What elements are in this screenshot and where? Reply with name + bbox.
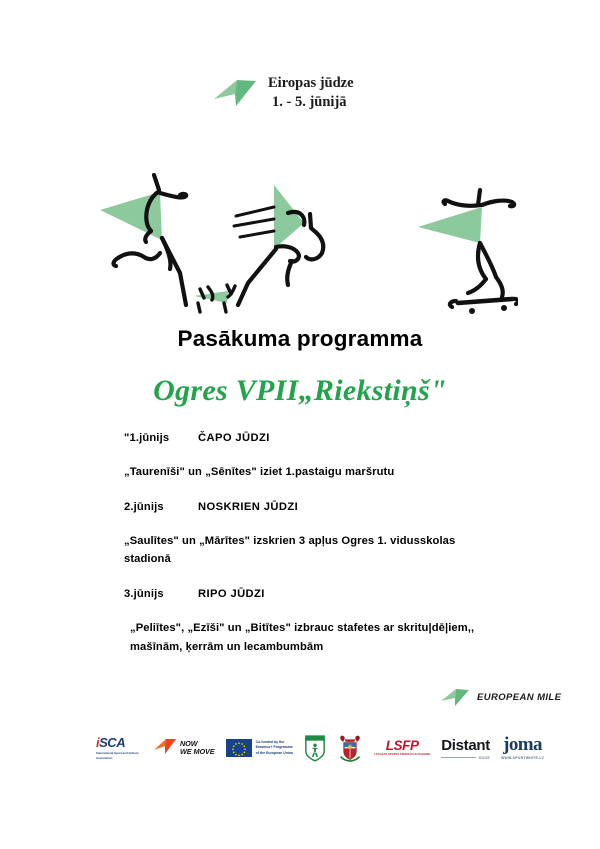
program-day-row: 3.jūnijsRIPO JŪDZI [124,586,504,602]
joma-subtitle: WWW.SPORTWHITE.LV [501,756,544,760]
program-day-row: 2.jūnijsNOSKRIEN JŪDZI [124,499,504,515]
sponsor-distant: Distant EDGE [441,737,490,760]
nwm-line-2: WE MOVE [180,747,215,756]
lsfp-subtitle: LATVIJAS SPORTA FEDERĀCIJU PADOME [374,754,430,757]
page-title: Pasākuma programma [0,326,600,352]
green-sport-shield-icon [304,734,326,762]
program-day-label: 2.jūnijs [124,499,198,515]
program-day-label: 3.jūnijs [124,586,198,602]
program-description: „Saulītes" un „Mārītes" izskrien 3 apļus… [124,532,504,569]
header-text-block: Eiropas jūdze 1. - 5. jūnijā [268,74,354,112]
sponsor-eu-erasmus: Co-funded by the Erasmus+ Programme of t… [226,739,294,757]
header-line-2: 1. - 5. jūnijā [268,93,354,112]
distant-wordmark: Distant [441,737,490,754]
distant-rule-line [441,757,476,758]
sponsor-lsfp: LSFP LATVIJAS SPORTA FEDERĀCIJU PADOME [374,739,430,757]
program-day-label: "1.jūnijs [124,430,198,446]
poster-page: Eiropas jūdze 1. - 5. jūnijā [0,0,600,849]
program-list: "1.jūnijsČAPO JŪDZI „Taurenīši" un „Sēnī… [124,430,504,673]
program-activity-label: ČAPO JŪDZI [198,430,270,446]
sponsor-now-we-move: NOW WE MOVE [153,736,215,761]
program-description: „Peliītes", „Ezīši" un „Bitītes" izbrauc… [124,619,504,656]
program-activity-label: RIPO JŪDZI [198,586,265,602]
orange-arrow-icon [153,736,177,761]
program-activity-label: NOSKRIEN JŪDZI [198,499,298,515]
now-we-move-wordmark: NOW WE MOVE [180,740,215,756]
european-mile-badge: EUROPEAN MILE [440,686,561,708]
eu-line-3: of the European Union [256,751,294,755]
program-day-row: "1.jūnijsČAPO JŪDZI [124,430,504,446]
isca-wordmark: iSCA [96,736,125,749]
latvia-coat-of-arms-icon [337,734,363,762]
eu-flag-icon [226,739,252,757]
distant-rule: EDGE [441,756,490,760]
sponsor-latvia-coat [337,734,363,762]
erasmus-funding-note: Co-funded by the Erasmus+ Programme of t… [256,740,294,756]
poster-header: Eiropas jūdze 1. - 5. jūnijā [212,74,354,112]
header-line-1: Eiropas jūdze [268,74,354,93]
eu-line-2: Erasmus+ Programme [256,745,293,749]
eu-line-1: Co-funded by the [256,740,285,744]
distant-subtitle: EDGE [479,756,490,760]
european-mile-label: EUROPEAN MILE [477,692,561,703]
sponsor-joma: joma WWW.SPORTWHITE.LV [501,736,544,760]
sponsor-sport-shield [304,734,326,762]
kindergarten-name-title: Ogres VPII„Riekstiņš" [0,374,600,408]
european-mile-arrow-icon [440,686,470,708]
isca-subtitle: International Sport and Culture Associat… [96,751,142,759]
lsfp-wordmark: LSFP [386,739,419,753]
program-description: „Taurenīši" un „Sēnītes" iziet 1.pastaig… [124,463,504,481]
european-mile-arrow-icon [212,76,258,110]
sponsor-isca: iSCA International Sport and Culture Ass… [96,736,142,759]
joma-wordmark: joma [503,736,542,754]
figures-illustration [88,165,518,320]
sponsor-logo-strip: iSCA International Sport and Culture Ass… [96,726,526,770]
